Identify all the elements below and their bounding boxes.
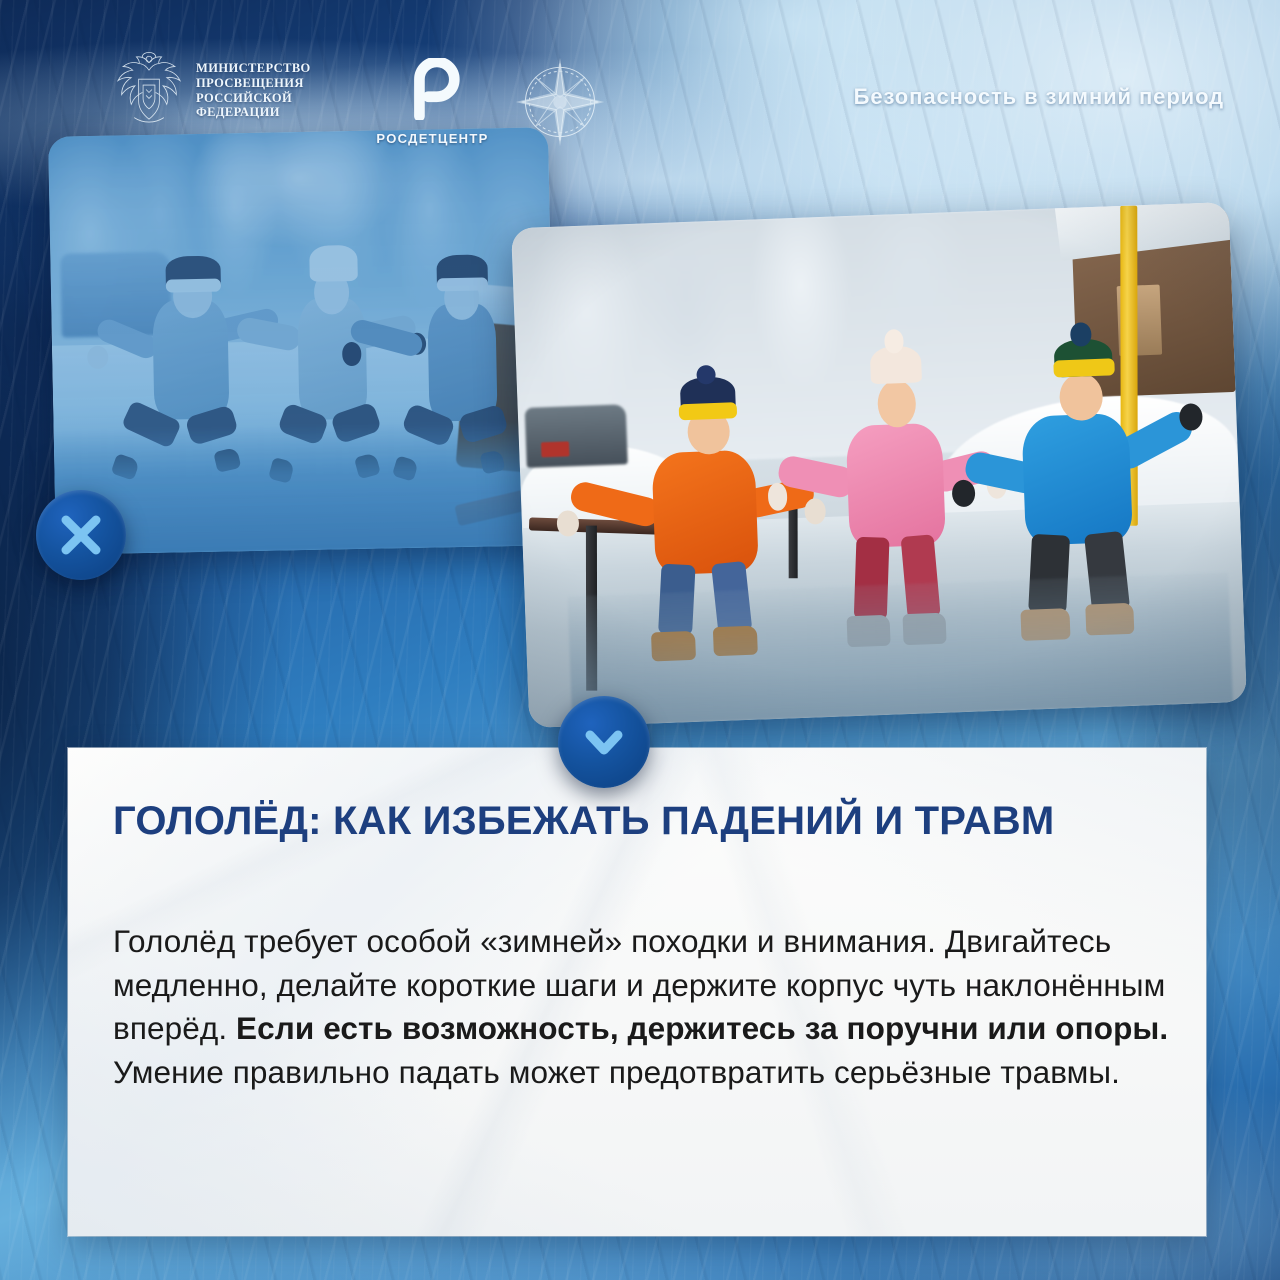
info-card: ГОЛОЛЁД: КАК ИЗБЕЖАТЬ ПАДЕНИЙ И ТРАВМ Го… xyxy=(68,748,1206,1236)
photo-kids-slipping-on-ice xyxy=(48,127,556,555)
ministry-line-2: ПРОСВЕЩЕНИЯ xyxy=(196,76,311,91)
card-body-bold: Если есть возможность, держитесь за пору… xyxy=(236,1010,1168,1046)
ministry-name: МИНИСТЕРСТВО ПРОСВЕЩЕНИЯ РОССИЙСКОЙ ФЕДЕ… xyxy=(196,61,311,120)
card-body-part-2: Умение правильно падать может предотврат… xyxy=(113,1054,1120,1090)
cross-badge xyxy=(36,490,126,580)
ministry-line-1: МИНИСТЕРСТВО xyxy=(196,61,311,76)
x-mark-icon xyxy=(54,508,108,562)
ministry-line-3: РОССИЙСКОЙ xyxy=(196,91,311,106)
rosdetcentr-label: РОСДЕТЦЕНТР xyxy=(370,131,495,146)
photo-1-blue-wash xyxy=(48,127,556,555)
photo-1-content xyxy=(48,127,556,555)
photo-2-vignette xyxy=(511,202,1247,728)
header-title: Безопасность в зимний период xyxy=(854,84,1224,110)
chevron-down-icon xyxy=(578,716,630,768)
rosdetcentr-r-mark xyxy=(402,58,464,120)
emercom-star-emblem xyxy=(512,54,608,150)
photo-kids-walking-holding-support xyxy=(511,202,1247,728)
card-body: Гололёд требует особой «зимней» походки … xyxy=(113,920,1173,1095)
header: МИНИСТЕРСТВО ПРОСВЕЩЕНИЯ РОССИЙСКОЙ ФЕДЕ… xyxy=(0,0,1280,150)
ministry-line-4: ФЕДЕРАЦИИ xyxy=(196,105,311,120)
chevron-badge xyxy=(558,696,650,788)
card-title: ГОЛОЛЁД: КАК ИЗБЕЖАТЬ ПАДЕНИЙ И ТРАВМ xyxy=(113,798,1113,844)
photo-2-content xyxy=(511,202,1247,728)
double-headed-eagle-emblem xyxy=(112,52,186,130)
logo-group: МИНИСТЕРСТВО ПРОСВЕЩЕНИЯ РОССИЙСКОЙ ФЕДЕ… xyxy=(112,52,311,130)
rosdetcentr-logo: РОСДЕТЦЕНТР xyxy=(370,58,495,146)
